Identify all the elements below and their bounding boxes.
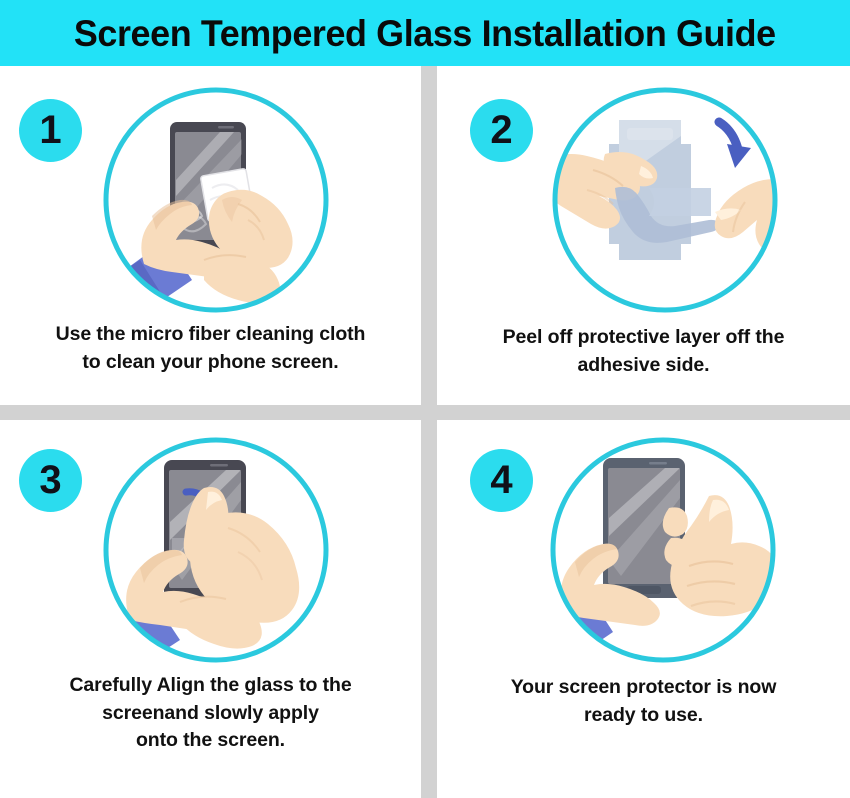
vertical-divider — [421, 66, 437, 798]
step-illustration-1 — [100, 84, 332, 316]
step-illustration-2 — [549, 84, 781, 316]
step-badge-2: 2 — [470, 99, 533, 162]
step-panel-3: 3 — [0, 420, 421, 798]
step-panel-1: 1 — [0, 66, 421, 405]
step-number-3: 3 — [39, 460, 61, 500]
steps-grid: 1 — [0, 66, 850, 798]
caption-line: Peel off protective layer off the — [451, 324, 836, 352]
caption-line: Your screen protector is now — [451, 674, 836, 702]
step-caption-3: Carefully Align the glass to the screena… — [0, 672, 421, 755]
step-panel-4: 4 — [437, 420, 850, 798]
step-panel-2: 2 — [437, 66, 850, 405]
step-badge-3: 3 — [19, 449, 82, 512]
page-title: Screen Tempered Glass Installation Guide — [74, 15, 776, 52]
step-illustration-4 — [547, 434, 779, 666]
step-caption-2: Peel off protective layer off the adhesi… — [437, 324, 850, 379]
step-number-2: 2 — [490, 110, 512, 150]
caption-line: Use the micro fiber cleaning cloth — [14, 321, 407, 349]
step-badge-1: 1 — [19, 99, 82, 162]
page-header: Screen Tempered Glass Installation Guide — [0, 0, 850, 66]
caption-line: screenand slowly apply — [14, 700, 407, 728]
step-caption-1: Use the micro fiber cleaning cloth to cl… — [0, 321, 421, 376]
step-number-1: 1 — [39, 110, 61, 150]
caption-line: ready to use. — [451, 702, 836, 730]
horizontal-divider — [0, 405, 850, 420]
caption-line: to clean your phone screen. — [14, 349, 407, 377]
caption-line: adhesive side. — [451, 352, 836, 380]
step-caption-4: Your screen protector is now ready to us… — [437, 674, 850, 729]
step-number-4: 4 — [490, 460, 512, 500]
caption-line: Carefully Align the glass to the — [14, 672, 407, 700]
step-illustration-3 — [100, 434, 332, 666]
caption-line: onto the screen. — [14, 727, 407, 755]
step-badge-4: 4 — [470, 449, 533, 512]
